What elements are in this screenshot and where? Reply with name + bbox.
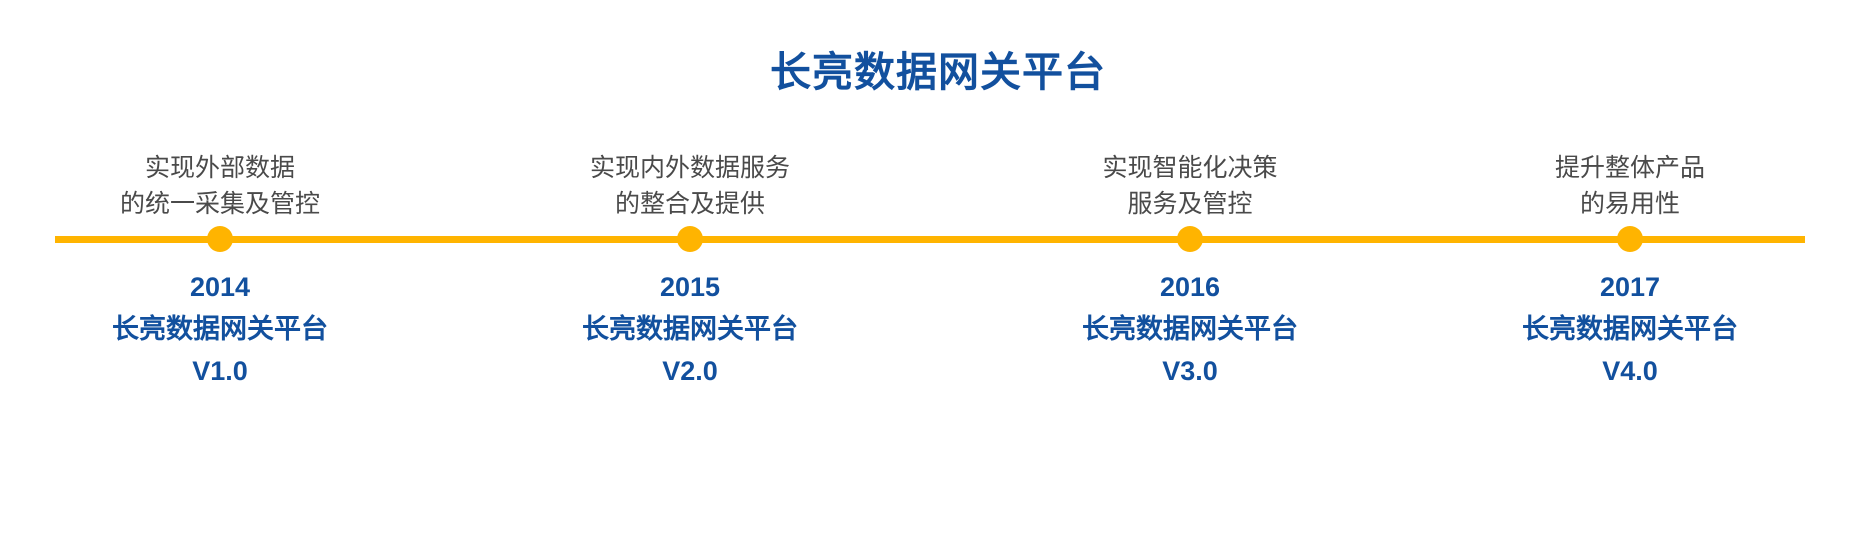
milestone-description-line-1: 实现内外数据服务 bbox=[500, 150, 880, 186]
milestone-product: 长亮数据网关平台 bbox=[30, 308, 410, 350]
milestone-description: 实现外部数据 的统一采集及管控 bbox=[30, 150, 410, 222]
milestone-year: 2014 bbox=[30, 266, 410, 308]
milestone-dot-2015 bbox=[677, 226, 703, 252]
milestone-description-line-2: 的统一采集及管控 bbox=[30, 186, 410, 222]
milestone-description-line-1: 实现智能化决策 bbox=[1000, 150, 1380, 186]
milestone-description-line-1: 实现外部数据 bbox=[30, 150, 410, 186]
milestone-dot-2017 bbox=[1617, 226, 1643, 252]
milestone-label: 2014 长亮数据网关平台 V1.0 bbox=[30, 266, 410, 392]
milestone-2017: 提升整体产品 的易用性 2017 长亮数据网关平台 V4.0 bbox=[1440, 0, 1820, 541]
timeline-diagram: 长亮数据网关平台 实现外部数据 的统一采集及管控 2014 长亮数据网关平台 V… bbox=[0, 0, 1876, 541]
milestone-product: 长亮数据网关平台 bbox=[1440, 308, 1820, 350]
milestone-description-line-1: 提升整体产品 bbox=[1440, 150, 1820, 186]
milestone-dot-2016 bbox=[1177, 226, 1203, 252]
milestone-year: 2016 bbox=[1000, 266, 1380, 308]
milestone-version: V3.0 bbox=[1000, 350, 1380, 392]
milestone-description-line-2: 服务及管控 bbox=[1000, 186, 1380, 222]
milestone-year: 2017 bbox=[1440, 266, 1820, 308]
milestone-2014: 实现外部数据 的统一采集及管控 2014 长亮数据网关平台 V1.0 bbox=[30, 0, 410, 541]
milestone-version: V4.0 bbox=[1440, 350, 1820, 392]
milestone-label: 2015 长亮数据网关平台 V2.0 bbox=[500, 266, 880, 392]
milestone-description-line-2: 的整合及提供 bbox=[500, 186, 880, 222]
milestone-description: 提升整体产品 的易用性 bbox=[1440, 150, 1820, 222]
milestone-description-line-2: 的易用性 bbox=[1440, 186, 1820, 222]
milestone-product: 长亮数据网关平台 bbox=[500, 308, 880, 350]
milestone-year: 2015 bbox=[500, 266, 880, 308]
milestone-label: 2017 长亮数据网关平台 V4.0 bbox=[1440, 266, 1820, 392]
milestone-description: 实现内外数据服务 的整合及提供 bbox=[500, 150, 880, 222]
milestone-label: 2016 长亮数据网关平台 V3.0 bbox=[1000, 266, 1380, 392]
milestone-2016: 实现智能化决策 服务及管控 2016 长亮数据网关平台 V3.0 bbox=[1000, 0, 1380, 541]
milestone-description: 实现智能化决策 服务及管控 bbox=[1000, 150, 1380, 222]
milestone-dot-2014 bbox=[207, 226, 233, 252]
milestone-2015: 实现内外数据服务 的整合及提供 2015 长亮数据网关平台 V2.0 bbox=[500, 0, 880, 541]
milestone-product: 长亮数据网关平台 bbox=[1000, 308, 1380, 350]
milestone-version: V1.0 bbox=[30, 350, 410, 392]
milestone-version: V2.0 bbox=[500, 350, 880, 392]
